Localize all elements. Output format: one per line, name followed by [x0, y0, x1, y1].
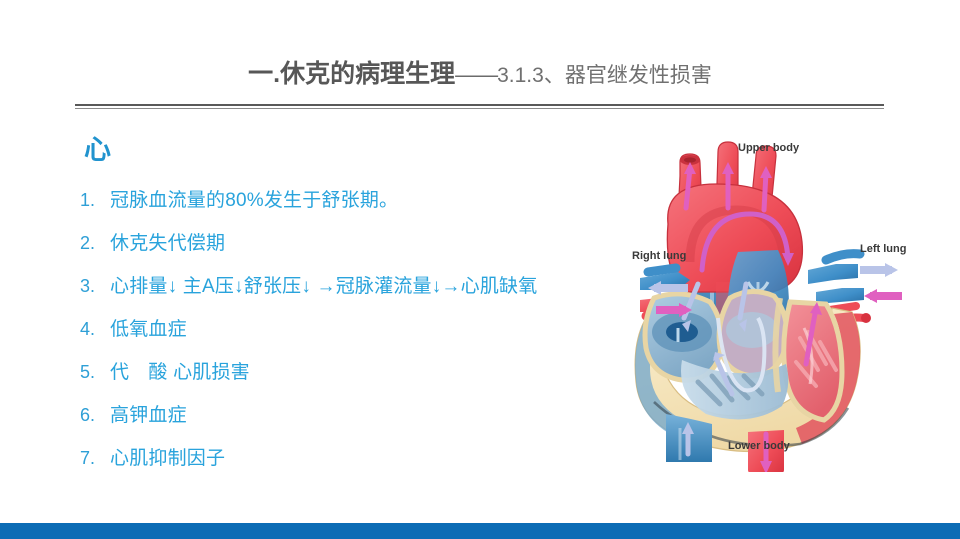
list-item-number: 1.	[80, 190, 110, 211]
list-item: 3. 心排量↓ 主A压↓舒张压↓ →冠脉灌流量↓→心肌缺氧	[80, 271, 680, 314]
list-item-text: 休克失代偿期	[110, 228, 225, 255]
list-item-number: 2.	[80, 233, 110, 254]
divider-line-thick	[75, 104, 884, 106]
figure-label-lower-body: Lower body	[728, 440, 790, 452]
figure-label-left-lung: Left lung	[860, 243, 906, 255]
divider-line-thin	[75, 108, 884, 109]
list-item-number: 7.	[80, 448, 110, 469]
list-item-text: 高钾血症	[110, 400, 187, 427]
list-item-number: 3.	[80, 276, 110, 297]
list-item: 6. 高钾血症	[80, 400, 680, 443]
slide-title: 一.休克的病理生理——3.1.3、器官继发性损害	[0, 62, 960, 87]
list-item-text: 低氧血症	[110, 314, 187, 341]
title-divider	[75, 104, 884, 110]
list-item-number: 6.	[80, 405, 110, 426]
section-heading: 心	[84, 136, 111, 166]
list-item: 2. 休克失代偿期	[80, 228, 680, 271]
title-main-text: 一.休克的病理生理	[248, 60, 455, 88]
list-item: 4. 低氧血症	[80, 314, 680, 357]
numbered-list: 1. 冠脉血流量的80%发生于舒张期。 2. 休克失代偿期 3. 心排量↓ 主A…	[80, 185, 680, 486]
list-item: 1. 冠脉血流量的80%发生于舒张期。	[80, 185, 680, 228]
title-dash: ——	[455, 62, 497, 87]
list-item-text: 冠脉血流量的80%发生于舒张期。	[110, 185, 398, 212]
figure-label-upper-body: Upper body	[738, 142, 799, 154]
title-subtitle-text: 3.1.3、器官继发性损害	[497, 64, 712, 87]
heart-anatomy-figure: Upper body Right lung Left lung Lower bo…	[620, 132, 955, 472]
figure-label-right-lung: Right lung	[632, 250, 686, 262]
list-item-number: 5.	[80, 362, 110, 383]
list-item: 5. 代 酸 心肌损害	[80, 357, 680, 400]
list-item-text: 心排量↓ 主A压↓舒张压↓ →冠脉灌流量↓→心肌缺氧	[110, 271, 537, 298]
list-item-text: 代 酸 心肌损害	[110, 357, 250, 384]
footer-bar	[0, 523, 960, 539]
slide-canvas: 一.休克的病理生理——3.1.3、器官继发性损害 心 1. 冠脉血流量的80%发…	[0, 0, 960, 539]
heart-diagram-icon	[620, 132, 955, 472]
list-item: 7. 心肌抑制因子	[80, 443, 680, 486]
list-item-number: 4.	[80, 319, 110, 340]
list-item-text: 心肌抑制因子	[110, 443, 225, 470]
